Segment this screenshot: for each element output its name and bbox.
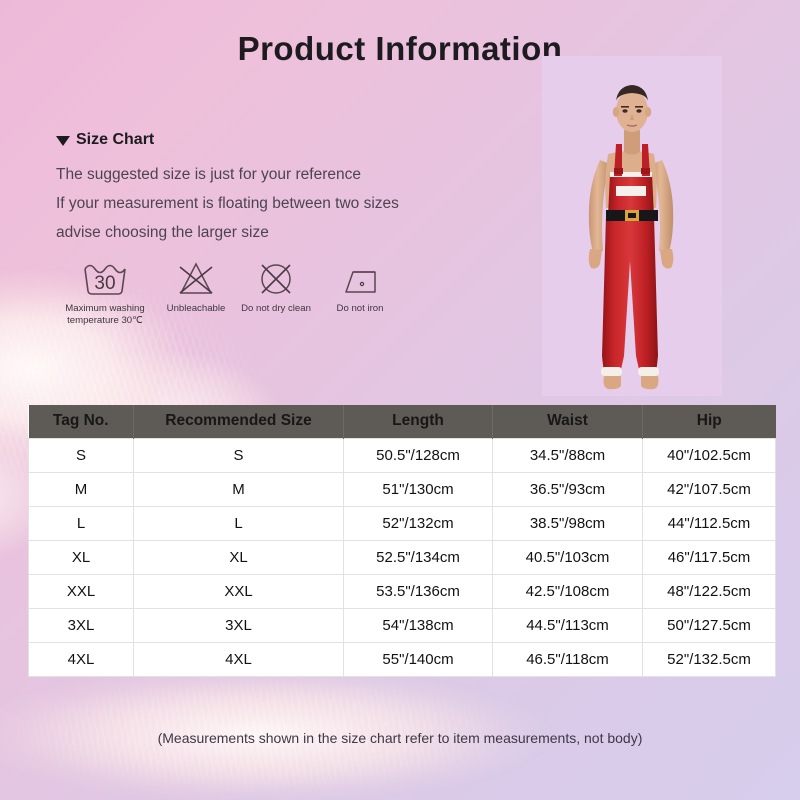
care-item-label: Do not iron	[320, 303, 400, 315]
column-header-waist: Waist	[493, 405, 643, 438]
table-row: 4XL 4XL 55"/140cm 46.5"/118cm 52"/132.5c…	[29, 642, 776, 676]
cell-length: 52.5"/134cm	[344, 540, 493, 574]
wash-tub-30-icon: 30	[52, 258, 158, 300]
cell-waist: 44.5"/113cm	[493, 608, 643, 642]
ankle-cuff-left	[601, 367, 622, 376]
care-item-no-iron: Do not iron	[320, 258, 400, 315]
cell-tag-no: 4XL	[29, 642, 134, 676]
care-item-no-dry-clean: Do not dry clean	[230, 258, 322, 315]
cell-length: 50.5"/128cm	[344, 438, 493, 472]
cell-recommended-size: XL	[134, 540, 344, 574]
table-row: XL XL 52.5"/134cm 40.5"/103cm 46"/117.5c…	[29, 540, 776, 574]
cell-waist: 38.5"/98cm	[493, 506, 643, 540]
table-header-row: Tag No. Recommended Size Length Waist Hi…	[29, 405, 776, 438]
cell-recommended-size: 3XL	[134, 608, 344, 642]
care-instructions: 30 Maximum washing temperature 30℃ Unble…	[52, 258, 432, 338]
care-item-max-wash-temp: 30 Maximum washing temperature 30℃	[52, 258, 158, 326]
size-chart-table: Tag No. Recommended Size Length Waist Hi…	[28, 405, 776, 677]
description-line: The suggested size is just for your refe…	[56, 160, 506, 189]
cell-tag-no: L	[29, 506, 134, 540]
no-bleach-icon	[158, 258, 234, 300]
cell-hip: 48"/122.5cm	[643, 574, 776, 608]
cell-tag-no: S	[29, 438, 134, 472]
care-item-label: Unbleachable	[158, 303, 234, 315]
table-row: L L 52"/132cm 38.5"/98cm 44"/112.5cm	[29, 506, 776, 540]
no-iron-icon	[320, 258, 400, 300]
product-information-page: Product Information Size Chart The sugge…	[0, 0, 800, 800]
triangle-down-icon	[56, 136, 70, 146]
cell-tag-no: 3XL	[29, 608, 134, 642]
care-item-label: Do not dry clean	[230, 303, 322, 315]
cell-hip: 42"/107.5cm	[643, 472, 776, 506]
cell-waist: 46.5"/118cm	[493, 642, 643, 676]
wash-temp-value: 30	[94, 273, 115, 294]
cell-waist: 34.5"/88cm	[493, 438, 643, 472]
product-photo-male-model	[542, 56, 722, 396]
cell-waist: 42.5"/108cm	[493, 574, 643, 608]
no-dry-clean-icon	[230, 258, 322, 300]
table-row: S S 50.5"/128cm 34.5"/88cm 40"/102.5cm	[29, 438, 776, 472]
size-chart-description: The suggested size is just for your refe…	[56, 160, 506, 247]
cell-recommended-size: XXL	[134, 574, 344, 608]
column-header-recommended-size: Recommended Size	[134, 405, 344, 438]
cell-waist: 36.5"/93cm	[493, 472, 643, 506]
table-row: XXL XXL 53.5"/136cm 42.5"/108cm 48"/122.…	[29, 574, 776, 608]
table-row: 3XL 3XL 54"/138cm 44.5"/113cm 50"/127.5c…	[29, 608, 776, 642]
cell-hip: 46"/117.5cm	[643, 540, 776, 574]
cell-length: 53.5"/136cm	[344, 574, 493, 608]
cell-tag-no: XL	[29, 540, 134, 574]
cell-length: 54"/138cm	[344, 608, 493, 642]
cell-recommended-size: M	[134, 472, 344, 506]
cell-recommended-size: 4XL	[134, 642, 344, 676]
cell-hip: 50"/127.5cm	[643, 608, 776, 642]
column-header-tag-no: Tag No.	[29, 405, 134, 438]
footer-note: (Measurements shown in the size chart re…	[0, 730, 800, 746]
table-row: M M 51"/130cm 36.5"/93cm 42"/107.5cm	[29, 472, 776, 506]
cell-length: 55"/140cm	[344, 642, 493, 676]
cell-length: 52"/132cm	[344, 506, 493, 540]
cell-recommended-size: S	[134, 438, 344, 472]
cell-tag-no: M	[29, 472, 134, 506]
cell-hip: 52"/132.5cm	[643, 642, 776, 676]
size-chart-label: Size Chart	[76, 131, 154, 149]
cell-tag-no: XXL	[29, 574, 134, 608]
cell-hip: 40"/102.5cm	[643, 438, 776, 472]
column-header-length: Length	[344, 405, 493, 438]
cell-length: 51"/130cm	[344, 472, 493, 506]
description-line: If your measurement is floating between …	[56, 189, 506, 218]
cell-recommended-size: L	[134, 506, 344, 540]
cell-waist: 40.5"/103cm	[493, 540, 643, 574]
care-item-label: Maximum washing temperature 30℃	[52, 303, 158, 326]
ankle-cuff-right	[638, 367, 659, 376]
cell-hip: 44"/112.5cm	[643, 506, 776, 540]
size-chart-heading: Size Chart	[56, 131, 154, 149]
description-line: advise choosing the larger size	[56, 218, 506, 247]
column-header-hip: Hip	[643, 405, 776, 438]
care-item-unbleachable: Unbleachable	[158, 258, 234, 315]
